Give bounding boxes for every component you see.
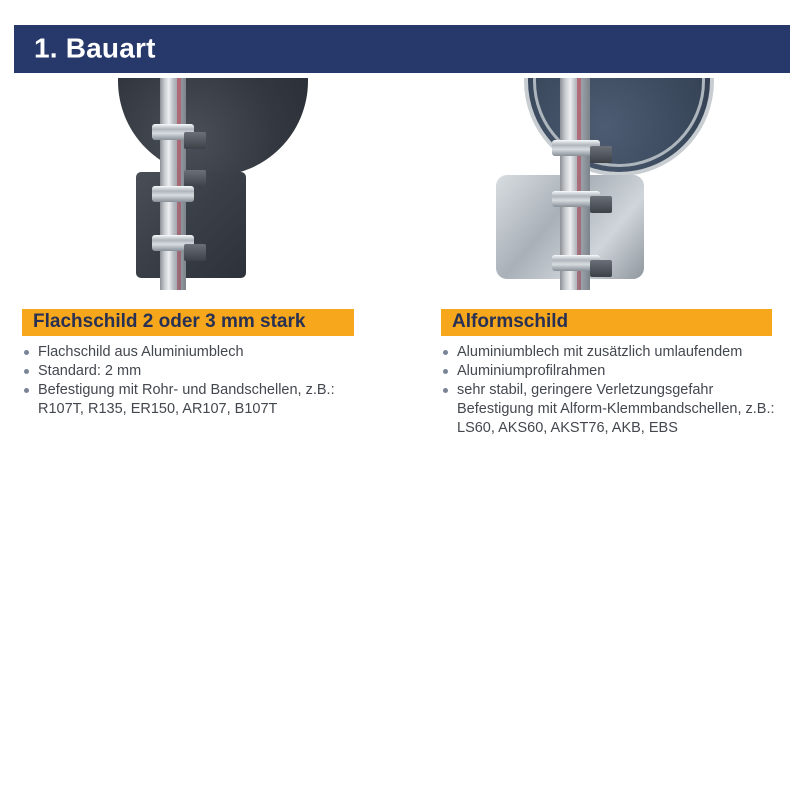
bullet-text: Flachschild aus Aluminiumblech — [38, 344, 244, 360]
round-sign-back-icon — [118, 78, 308, 176]
bullet-text: Aluminiumblech mit zusätzlich umlaufende… — [457, 344, 742, 360]
flachschild-title: Flachschild 2 oder 3 mm stark — [33, 311, 305, 333]
clamp-tab — [184, 244, 206, 261]
flachschild-title-bar: Flachschild 2 oder 3 mm stark — [22, 309, 354, 336]
mast-pole — [160, 78, 186, 290]
list-item: Standard: 2 mm — [22, 362, 394, 381]
flachschild-photo-stage — [0, 78, 400, 290]
round-sign-back-icon — [524, 78, 714, 176]
list-item: Flachschild aus Aluminiumblech — [22, 343, 394, 362]
bullet-subtext: R107T, R135, ER150, AR107, B107T — [38, 400, 394, 419]
column-flachschild: Flachschild 2 oder 3 mm stark Flachschil… — [0, 78, 400, 458]
bullet-text: Standard: 2 mm — [38, 363, 141, 379]
bullet-text: Aluminiumprofilrahmen — [457, 363, 605, 379]
list-item: sehr stabil, geringere Verletzungsgefahr… — [441, 381, 800, 438]
page-title: 1. Bauart — [34, 32, 156, 64]
flachschild-photo — [0, 78, 400, 290]
section-header-bar: 1. Bauart — [14, 25, 790, 73]
list-item: Befestigung mit Rohr- und Bandschellen, … — [22, 381, 394, 419]
clamp-tab — [590, 146, 612, 163]
alformschild-title-bar: Alformschild — [441, 309, 772, 336]
pole-stripe — [177, 78, 181, 290]
clamp-tab — [184, 170, 206, 187]
content-columns: Flachschild 2 oder 3 mm stark Flachschil… — [0, 78, 800, 458]
alformschild-bullet-list: Aluminiumblech mit zusätzlich umlaufende… — [441, 343, 800, 438]
clamp-tab — [184, 132, 206, 149]
column-alformschild: Alformschild Aluminiumblech mit zusätzli… — [408, 78, 800, 458]
alformschild-photo — [408, 78, 800, 290]
clamp-tab — [590, 196, 612, 213]
clamp-tab — [590, 260, 612, 277]
bullet-subtext: Befestigung mit Alform-Klemmbandschellen… — [457, 400, 800, 438]
band-clamp — [152, 186, 194, 202]
bullet-text: Befestigung mit Rohr- und Bandschellen, … — [38, 382, 335, 398]
flachschild-bullet-list: Flachschild aus Aluminiumblech Standard:… — [22, 343, 394, 419]
alformschild-photo-stage — [408, 78, 800, 290]
list-item: Aluminiumblech mit zusätzlich umlaufende… — [441, 343, 800, 362]
alformschild-title: Alformschild — [452, 311, 568, 333]
list-item: Aluminiumprofilrahmen — [441, 362, 800, 381]
bullet-text: sehr stabil, geringere Verletzungsgefahr — [457, 382, 713, 398]
